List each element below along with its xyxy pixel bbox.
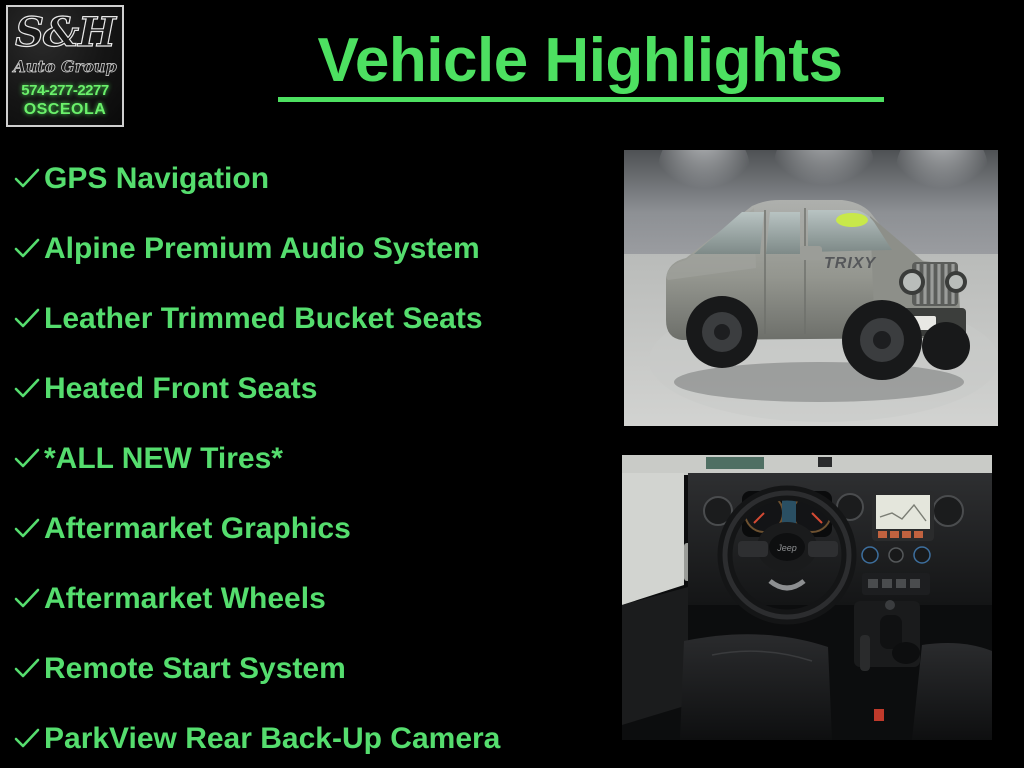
logo-phone-number: 574-277-2277 [8,82,122,99]
list-item: *ALL NEW Tires* [10,424,610,494]
check-icon [10,377,44,401]
check-icon [10,517,44,541]
check-icon [10,587,44,611]
check-icon [10,447,44,471]
logo-city: OSCEOLA [8,101,122,119]
check-icon [10,727,44,751]
list-item: Aftermarket Graphics [10,494,610,564]
title-underline [278,97,884,102]
list-item: ParkView Rear Back-Up Camera [10,704,610,768]
list-item-label: Aftermarket Wheels [44,582,326,616]
list-item: Remote Start System [10,634,610,704]
vehicle-interior-photo: Jeep [622,455,992,740]
list-item-label: Alpine Premium Audio System [44,232,480,266]
logo-subtitle: Auto Group [8,57,122,76]
highlights-list: GPS Navigation Alpine Premium Audio Syst… [10,144,610,768]
list-item: Heated Front Seats [10,354,610,424]
list-item-label: Remote Start System [44,652,346,686]
list-item-label: *ALL NEW Tires* [44,442,283,476]
list-item-label: GPS Navigation [44,162,269,196]
check-icon [10,307,44,331]
vehicle-highlights-slide: S&H Auto Group 574-277-2277 OSCEOLA Vehi… [0,0,1024,768]
dealer-logo: S&H Auto Group 574-277-2277 OSCEOLA [6,5,124,127]
check-icon [10,657,44,681]
svg-text:Jeep: Jeep [776,543,797,553]
check-icon [10,237,44,261]
check-icon [10,167,44,191]
list-item: Alpine Premium Audio System [10,214,610,284]
list-item-label: ParkView Rear Back-Up Camera [44,722,500,756]
logo-script-text: S&H [8,11,122,55]
list-item: GPS Navigation [10,144,610,214]
list-item-label: Aftermarket Graphics [44,512,351,546]
svg-text:TRIXY: TRIXY [824,255,876,272]
page-title: Vehicle Highlights [150,27,1010,95]
list-item-label: Heated Front Seats [44,372,317,406]
list-item-label: Leather Trimmed Bucket Seats [44,302,483,336]
list-item: Aftermarket Wheels [10,564,610,634]
vehicle-exterior-photo: TRIXY [624,150,998,426]
list-item: Leather Trimmed Bucket Seats [10,284,610,354]
